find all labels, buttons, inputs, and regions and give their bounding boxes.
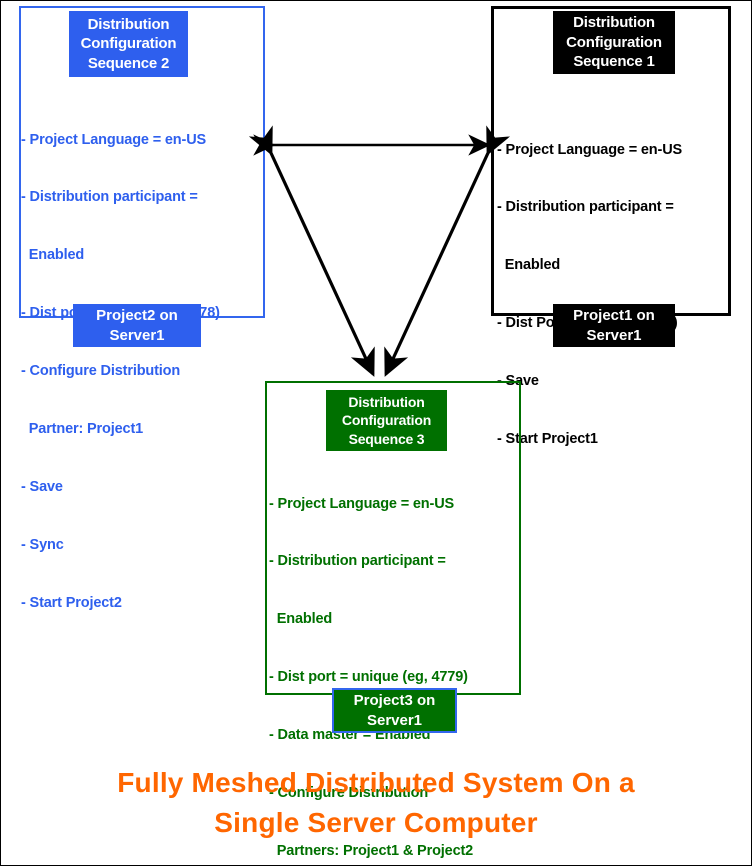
node-project3-header-badge: Distribution Configuration Sequence 3 (326, 390, 447, 451)
header-line-1: Distribution (348, 393, 424, 411)
diagram-caption: Fully Meshed Distributed System On a Sin… (1, 763, 751, 843)
step-item: - Project Language = en-US (497, 141, 729, 160)
node-project1-steps: - Project Language = en-US - Distributio… (497, 102, 729, 488)
footer-line-2: Server1 (586, 326, 641, 346)
step-item: Enabled (497, 256, 729, 275)
node-project3-footer-label: Project3 on Server1 (332, 688, 457, 733)
step-item: - Configure Distribution (21, 362, 261, 381)
step-item: Enabled (269, 610, 517, 629)
step-item: - Project Language = en-US (21, 131, 261, 150)
step-item: - Project Language = en-US (269, 495, 517, 514)
header-line-2: Configuration (342, 411, 431, 429)
connector-project1-project3 (386, 153, 488, 374)
header-line-3: Sequence 1 (573, 52, 654, 72)
footer-line-1: Project2 on (96, 306, 178, 326)
footer-line-1: Project1 on (573, 306, 655, 326)
header-line-2: Configuration (566, 33, 662, 53)
header-line-1: Distribution (88, 15, 170, 35)
caption-line-1: Fully Meshed Distributed System On a (1, 763, 751, 803)
step-item: Enabled (21, 246, 261, 265)
caption-line-2: Single Server Computer (1, 803, 751, 843)
footer-line-1: Project3 on (354, 691, 436, 711)
step-item: Partner: Project1 (21, 420, 261, 439)
step-item: - Distribution participant = (269, 552, 517, 571)
node-project1-footer-label: Project1 on Server1 (553, 304, 675, 347)
step-item: - Start Project2 (21, 594, 261, 613)
step-item: - Dist port = unique (eg, 4779) (269, 668, 517, 687)
connector-project2-project3 (271, 153, 373, 374)
header-line-2: Configuration (81, 34, 177, 54)
header-line-3: Sequence 2 (88, 54, 169, 74)
node-project1-header-badge: Distribution Configuration Sequence 1 (553, 11, 675, 74)
header-line-3: Sequence 3 (349, 430, 425, 448)
step-item: - Start Project1 (497, 430, 729, 449)
footer-line-2: Server1 (367, 711, 422, 731)
diagram-canvas: Distribution Configuration Sequence 2 - … (0, 0, 752, 866)
step-item: - Distribution participant = (21, 188, 261, 207)
header-line-1: Distribution (573, 13, 655, 33)
node-project2-header-badge: Distribution Configuration Sequence 2 (69, 11, 188, 77)
footer-line-2: Server1 (109, 326, 164, 346)
step-item: - Save (21, 478, 261, 497)
node-project2-steps: - Project Language = en-US - Distributio… (21, 92, 261, 652)
step-item: - Distribution participant = (497, 198, 729, 217)
step-item: - Save (497, 372, 729, 391)
step-item: Partners: Project1 & Project2 (269, 842, 517, 861)
step-item: - Sync (21, 536, 261, 555)
node-project2-footer-label: Project2 on Server1 (73, 304, 201, 347)
